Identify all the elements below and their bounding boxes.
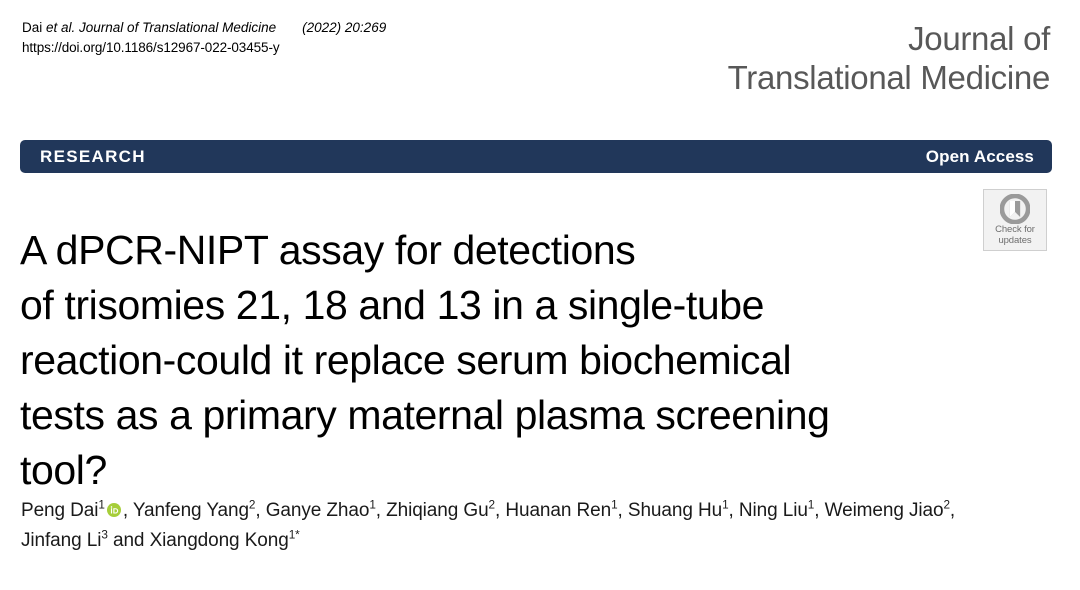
author-name[interactable]: Yanfeng Yang [133,500,249,521]
article-type-banner: RESEARCH Open Access [20,140,1052,173]
author-name[interactable]: Ganye Zhao [266,500,370,521]
author-separator: , [255,500,265,521]
crossmark-label-line2: updates [995,236,1035,247]
author-name[interactable]: Shuang Hu [628,500,722,521]
author-list: Peng Dai1, Yanfeng Yang2, Ganye Zhao1, Z… [21,496,1051,556]
running-head-journal: et al. Journal of Translational Medicine [46,20,276,35]
journal-masthead-line1: Journal of [728,20,1050,59]
author-separator: , [495,500,505,521]
running-head-volume-issue: (2022) 20:269 [302,18,386,38]
author-separator: , [950,500,955,521]
author-name[interactable]: Xiangdong Kong [150,530,289,551]
author-name[interactable]: Jinfang Li [21,530,101,551]
crossmark-icon [1000,194,1030,224]
author-name[interactable]: Zhiqiang Gu [386,500,488,521]
article-title-line: of trisomies 21, 18 and 13 in a single-t… [20,278,1000,333]
open-access-label[interactable]: Open Access [926,147,1034,167]
doi-link[interactable]: https://doi.org/10.1186/s12967-022-03455… [22,38,386,58]
author-name[interactable]: Huanan Ren [505,500,611,521]
orcid-id-icon[interactable] [107,503,121,517]
running-head-author: Dai [22,20,46,35]
article-title-line: A dPCR-NIPT assay for detections [20,223,1000,278]
running-head: Dai et al. Journal of Translational Medi… [22,18,386,59]
author-name[interactable]: Peng Dai [21,500,98,521]
article-type-label: RESEARCH [40,147,146,167]
author-separator: , [618,500,628,521]
journal-masthead-line2: Translational Medicine [728,59,1050,98]
author-name[interactable]: Weimeng Jiao [825,500,944,521]
journal-masthead: Journal of Translational Medicine [728,20,1050,98]
crossmark-label: Check for updates [995,225,1035,246]
author-separator: , [729,500,739,521]
running-head-citation-line: Dai et al. Journal of Translational Medi… [22,18,386,38]
author-separator: and [108,530,150,551]
article-title: A dPCR-NIPT assay for detections of tris… [20,223,1000,498]
author-separator: , [123,500,133,521]
author-affiliation-marker: 1 [98,499,104,512]
article-title-line: tool? [20,443,1000,498]
article-title-line: tests as a primary maternal plasma scree… [20,388,1000,443]
author-affiliation-marker: 1* [289,529,300,542]
author-line-2: Jinfang Li3 and Xiangdong Kong1* [21,526,1051,556]
article-title-line: reaction-could it replace serum biochemi… [20,333,1000,388]
author-separator: , [814,500,824,521]
author-separator: , [376,500,386,521]
author-line-1: Peng Dai1, Yanfeng Yang2, Ganye Zhao1, Z… [21,496,1051,526]
author-name[interactable]: Ning Liu [739,500,808,521]
